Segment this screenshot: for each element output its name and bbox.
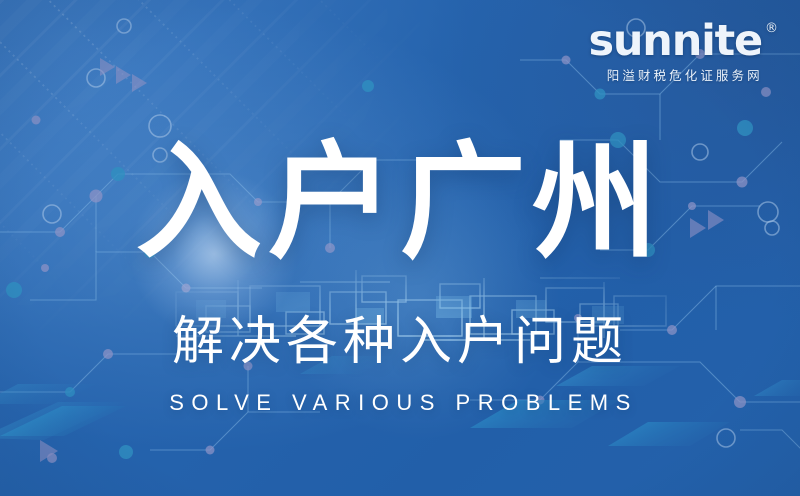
page-subtitle: 解决各种入户问题 <box>0 316 800 368</box>
logo-wordmark-text: sunnite <box>589 16 763 66</box>
logo-subtitle: 阳溢财税危化证服务网 <box>589 70 779 83</box>
page-title: 入户广州 <box>0 140 800 266</box>
promo-banner: sunnite® 阳溢财税危化证服务网 入户广州 解决各种入户问题 SOLVE … <box>0 0 800 496</box>
logo-wordmark: sunnite® <box>589 20 779 63</box>
brand-logo[interactable]: sunnite® 阳溢财税危化证服务网 <box>589 20 779 83</box>
page-tagline: SOLVE VARIOUS PROBLEMS <box>0 392 800 414</box>
registered-trademark-icon: ® <box>765 22 778 35</box>
